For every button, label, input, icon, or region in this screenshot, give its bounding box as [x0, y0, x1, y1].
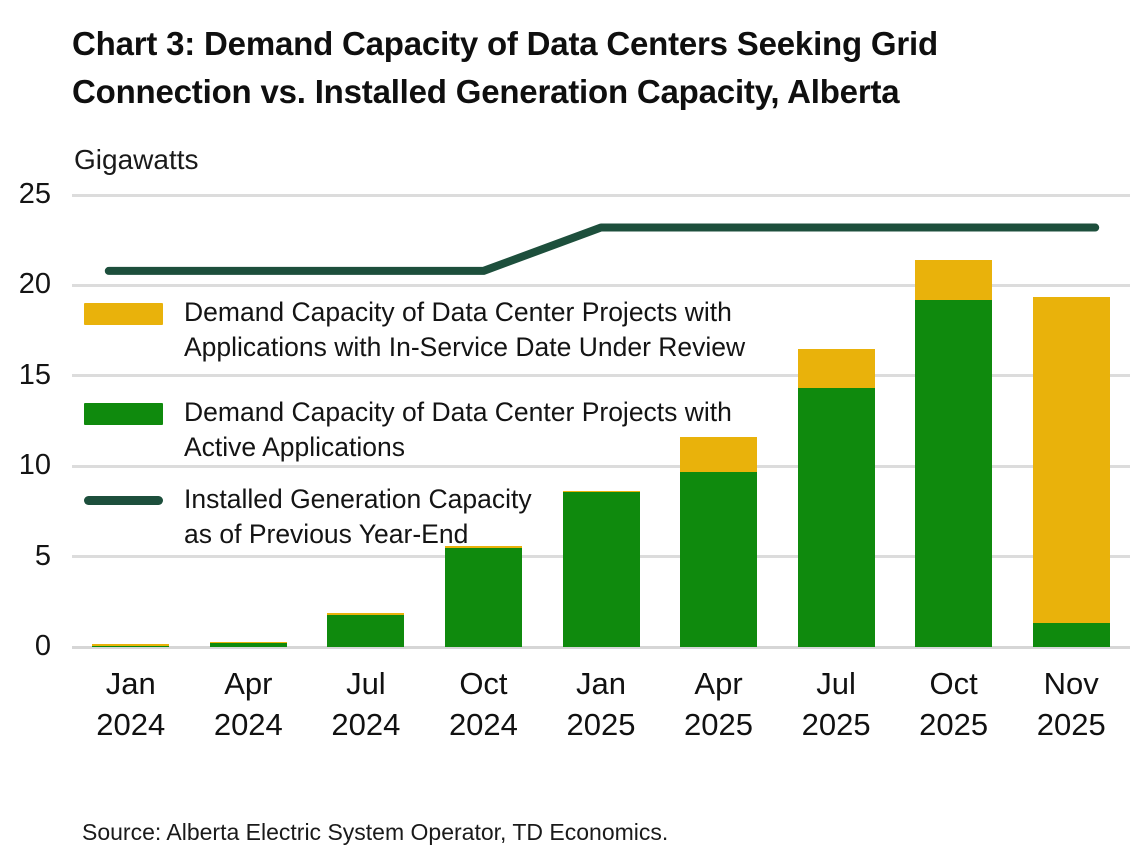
x-axis-tick-label-year: 2025 — [1012, 704, 1130, 745]
x-axis-tick-label-year: 2025 — [542, 704, 660, 745]
legend-item-label: Installed Generation Capacity as of Prev… — [184, 482, 804, 552]
y-axis-tick-label: 20 — [0, 270, 51, 299]
legend-swatch-installed-capacity — [84, 496, 163, 505]
y-axis-tick-label: 0 — [0, 632, 51, 661]
x-axis-tick-label-month: Jan — [542, 663, 660, 704]
x-axis-tick-label-month: Apr — [190, 663, 308, 704]
legend-swatch-active — [84, 403, 163, 425]
x-axis-tick-label-month: Oct — [895, 663, 1013, 704]
y-axis-tick-label: 10 — [0, 451, 51, 480]
legend-item-label: Demand Capacity of Data Center Projects … — [184, 395, 804, 465]
x-axis-tick-label: Jul2024 — [307, 663, 425, 745]
x-axis-tick-labels: Jan2024Apr2024Jul2024Oct2024Jan2025Apr20… — [72, 663, 1130, 753]
chart-container: Chart 3: Demand Capacity of Data Centers… — [0, 0, 1142, 850]
x-axis-tick-label-year: 2024 — [307, 704, 425, 745]
chart-title: Chart 3: Demand Capacity of Data Centers… — [72, 20, 1112, 116]
x-axis-tick-label-month: Apr — [660, 663, 778, 704]
x-axis-tick-label: Nov2025 — [1012, 663, 1130, 745]
x-axis-tick-label: Apr2025 — [660, 663, 778, 745]
x-axis-tick-label-year: 2025 — [895, 704, 1013, 745]
installed-capacity-line-path — [109, 228, 1095, 271]
x-axis-tick-label-year: 2024 — [425, 704, 543, 745]
x-axis-tick-label: Jan2024 — [72, 663, 190, 745]
x-axis-tick-label-year: 2024 — [190, 704, 308, 745]
x-axis-tick-label-month: Nov — [1012, 663, 1130, 704]
x-axis-tick-label-year: 2025 — [777, 704, 895, 745]
y-axis-tick-label: 25 — [0, 180, 51, 209]
x-axis-tick-label-year: 2025 — [660, 704, 778, 745]
x-axis-tick-label: Oct2024 — [425, 663, 543, 745]
y-axis-tick-label: 5 — [0, 542, 51, 571]
x-axis-tick-label-month: Oct — [425, 663, 543, 704]
source-note: Source: Alberta Electric System Operator… — [82, 818, 668, 846]
x-axis-tick-label: Oct2025 — [895, 663, 1013, 745]
x-axis-tick-label-month: Jan — [72, 663, 190, 704]
x-axis-tick-label-year: 2024 — [72, 704, 190, 745]
x-axis-tick-label-month: Jul — [777, 663, 895, 704]
x-axis-tick-label-month: Jul — [307, 663, 425, 704]
y-axis-tick-label: 15 — [0, 361, 51, 390]
x-axis-tick-label: Jan2025 — [542, 663, 660, 745]
y-axis-unit-label: Gigawatts — [74, 144, 199, 176]
x-axis-tick-label: Jul2025 — [777, 663, 895, 745]
legend-item-label: Demand Capacity of Data Center Projects … — [184, 295, 804, 365]
legend-swatch-review — [84, 303, 163, 325]
x-axis-tick-label: Apr2024 — [190, 663, 308, 745]
